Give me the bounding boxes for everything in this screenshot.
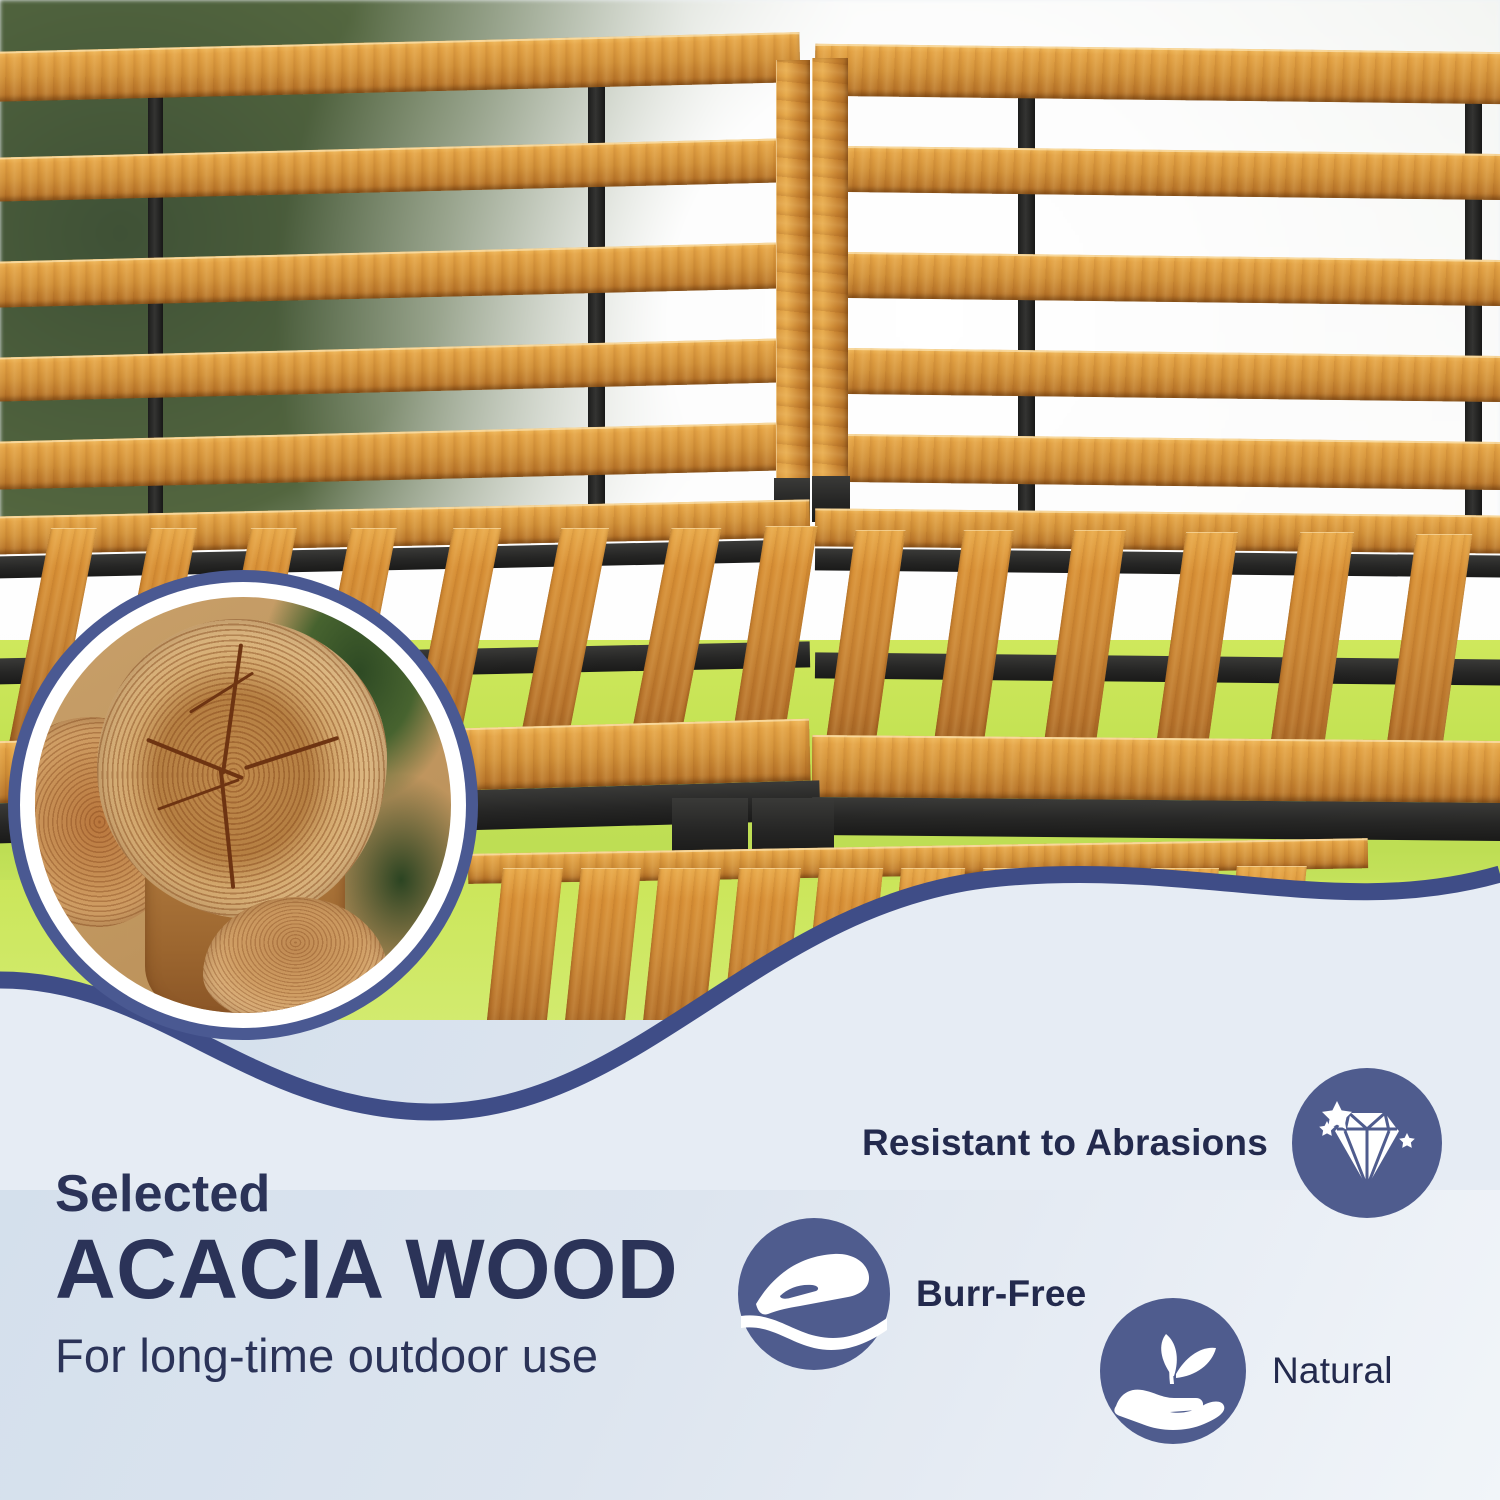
feature-burr-free: Burr-Free	[738, 1218, 1086, 1370]
backrest-slat	[838, 434, 1500, 490]
corner-post-right	[812, 58, 848, 520]
heading-subtitle: For long-time outdoor use	[55, 1330, 678, 1382]
inset-photo-image	[35, 597, 451, 1013]
feature-label: Burr-Free	[916, 1273, 1086, 1315]
hand-holding-sprout-icon	[1100, 1298, 1246, 1444]
diamond-icon	[1292, 1068, 1442, 1218]
heading-eyebrow: Selected	[55, 1168, 678, 1221]
hand-smooth-surface-icon	[738, 1218, 890, 1370]
corner-post-left	[776, 60, 810, 520]
feature-label: Natural	[1272, 1350, 1393, 1392]
backrest-slat	[815, 44, 1500, 105]
product-infographic: Selected ACACIA WOOD For long-time outdo…	[0, 0, 1500, 1500]
seat-apron	[812, 735, 1500, 803]
backrest-slat	[838, 348, 1500, 402]
lower-metal-frame	[812, 797, 1500, 841]
seat-front-rail	[815, 508, 1500, 553]
acacia-logs-inset	[8, 570, 478, 1040]
backrest-slat	[838, 252, 1500, 306]
feature-natural: Natural	[1100, 1298, 1393, 1444]
backrest-slat	[838, 146, 1500, 200]
feature-label: Resistant to Abrasions	[862, 1122, 1268, 1164]
leg-foot	[672, 798, 748, 856]
page-title: ACACIA WOOD	[55, 1225, 678, 1314]
feature-resistant-to-abrasions: Resistant to Abrasions	[862, 1068, 1442, 1218]
heading-block: Selected ACACIA WOOD For long-time outdo…	[55, 1168, 678, 1382]
